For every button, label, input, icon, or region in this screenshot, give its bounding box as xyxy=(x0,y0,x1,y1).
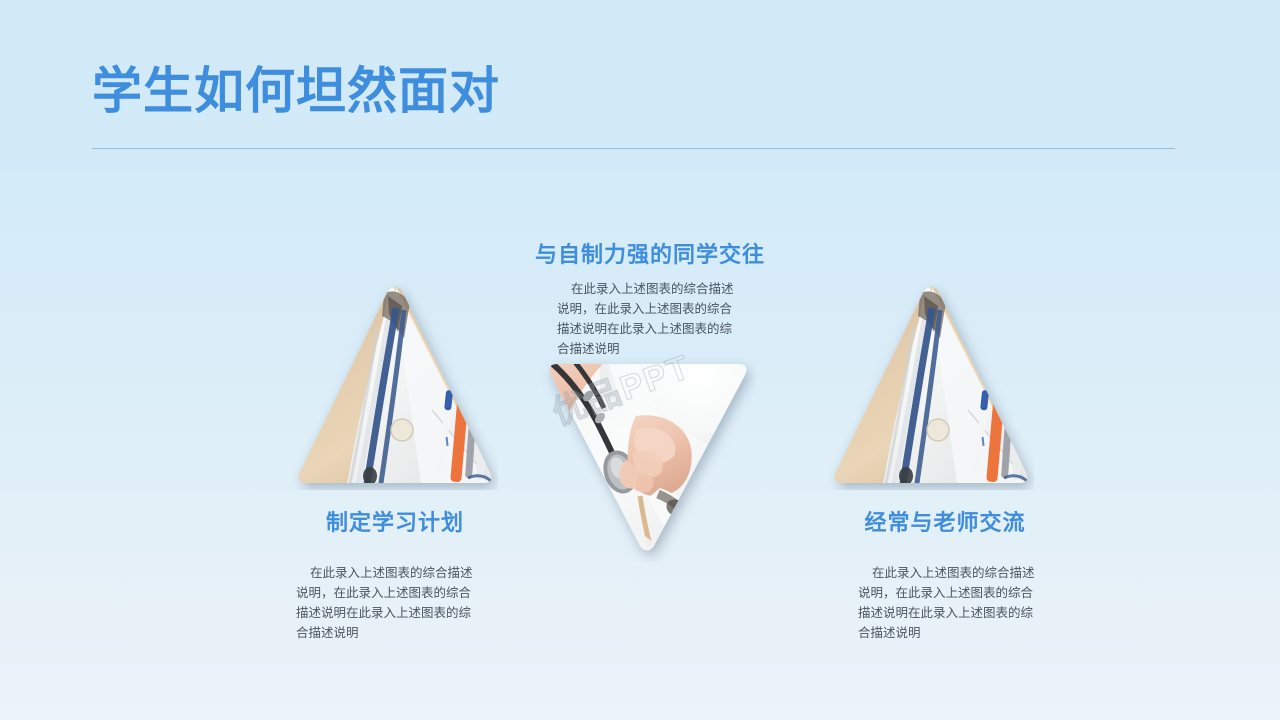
panel-image-center xyxy=(540,356,756,562)
panel-title-left: 制定学习计划 xyxy=(245,505,545,537)
triangle-up-shape-right xyxy=(828,280,1034,490)
panel-body-center: 在此录入上述图表的综合描述说明，在此录入上述图表的综合描述说明在此录入上述图表的… xyxy=(557,279,739,359)
triangle-up-icon xyxy=(292,280,498,490)
panel-image-left xyxy=(292,280,498,490)
triangle-up-icon xyxy=(828,280,1034,490)
triangle-up-shape-left xyxy=(292,280,498,490)
panel-body-right: 在此录入上述图表的综合描述说明，在此录入上述图表的综合描述说明在此录入上述图表的… xyxy=(858,563,1040,643)
panel-title-right: 经常与老师交流 xyxy=(795,505,1095,537)
panel-title-center: 与自制力强的同学交往 xyxy=(500,237,800,269)
slide-canvas: 学生如何坦然面对 xyxy=(0,0,1280,720)
triangle-down-icon xyxy=(540,356,756,562)
triangle-down-shape-center xyxy=(540,356,756,562)
title-divider xyxy=(92,148,1175,149)
page-title: 学生如何坦然面对 xyxy=(92,62,500,120)
panel-body-left: 在此录入上述图表的综合描述说明，在此录入上述图表的综合描述说明在此录入上述图表的… xyxy=(296,563,478,643)
panel-image-right xyxy=(828,280,1034,490)
